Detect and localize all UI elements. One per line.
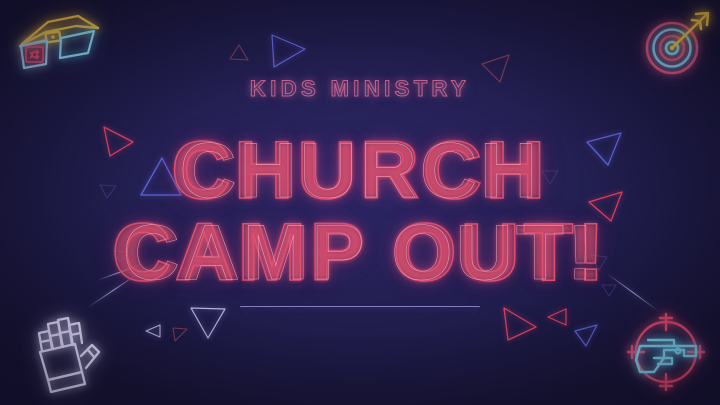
slide-canvas: KIDS MINISTRY CHURCH CHURCH CAMP OUT! CA… bbox=[0, 0, 720, 405]
eyebrow-label: KIDS MINISTRY bbox=[0, 76, 720, 102]
3d-glasses-icon bbox=[6, 8, 106, 80]
title-inner-stroke: CHURCH bbox=[16, 126, 704, 216]
decor-triangle bbox=[143, 322, 163, 340]
decor-triangle bbox=[170, 325, 190, 343]
decor-triangle bbox=[500, 305, 540, 343]
decor-triangle bbox=[545, 306, 569, 328]
decor-triangle bbox=[228, 42, 250, 62]
decor-triangle bbox=[188, 305, 228, 341]
banner-trapezoid bbox=[240, 306, 480, 342]
title-inner-stroke: CAMP OUT! bbox=[16, 208, 704, 298]
title-line-2: CAMP OUT! CAMP OUT! bbox=[0, 206, 720, 300]
glove-hand-icon bbox=[22, 300, 104, 396]
water-gun-target-icon bbox=[620, 306, 712, 398]
archery-target-icon bbox=[640, 6, 716, 80]
decor-triangle bbox=[268, 32, 308, 70]
title-line-1: CHURCH CHURCH bbox=[0, 124, 720, 218]
decor-triangle bbox=[572, 322, 600, 348]
